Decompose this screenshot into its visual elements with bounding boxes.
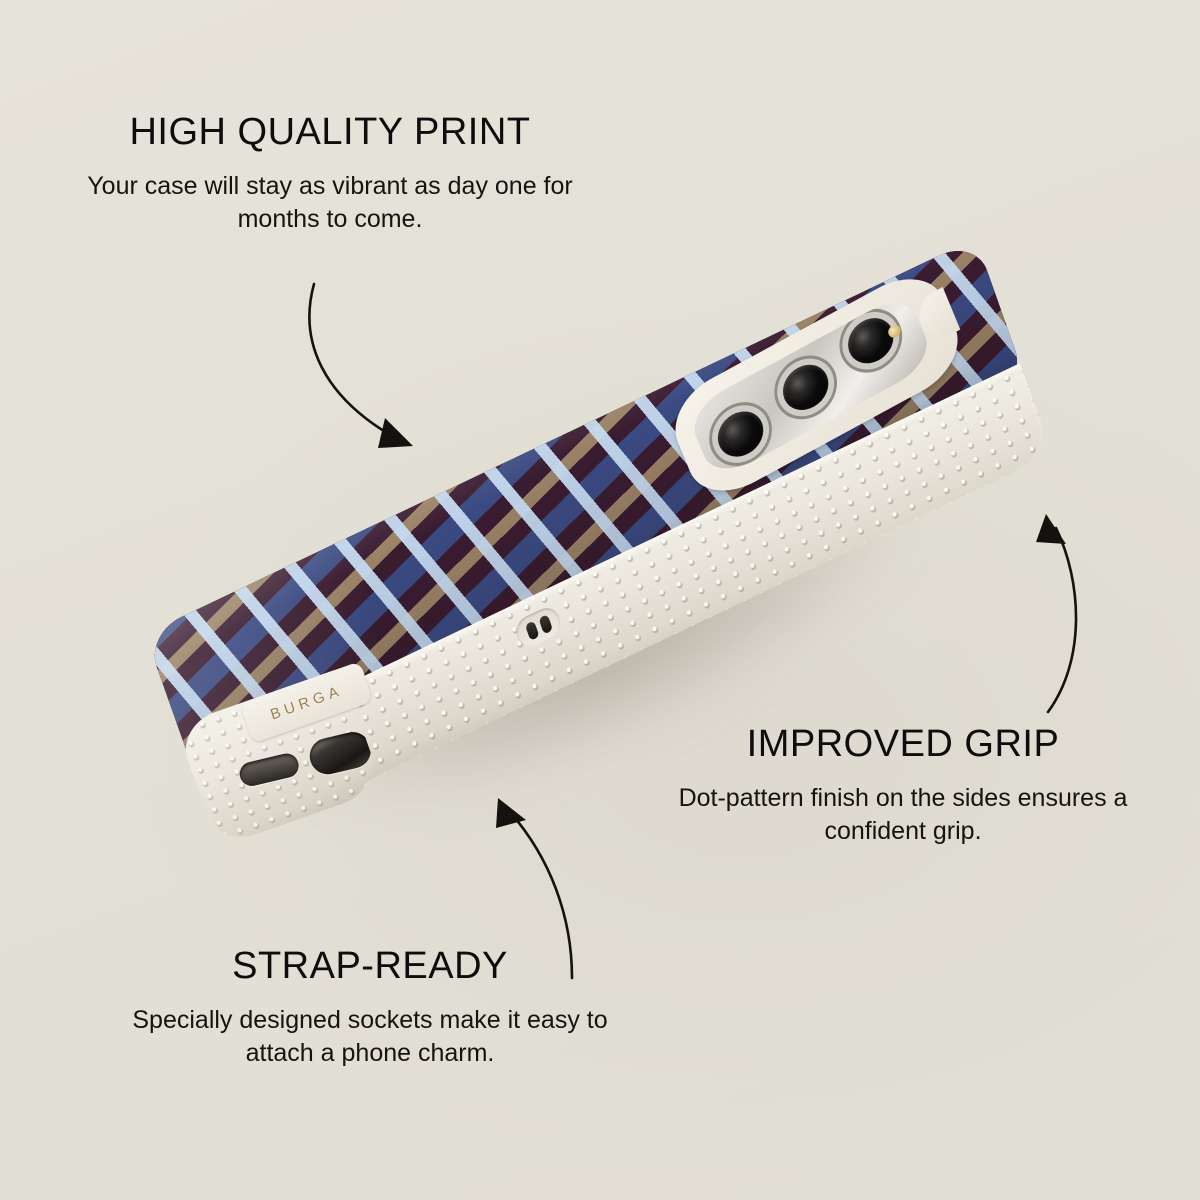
product-feature-graphic: HIGH QUALITY PRINT Your case will stay a… xyxy=(0,0,1200,1200)
callout-title: HIGH QUALITY PRINT xyxy=(48,112,612,154)
callout-body: Specially designed sockets make it easy … xyxy=(102,1004,638,1070)
camera-lens xyxy=(776,356,834,418)
camera-lens xyxy=(711,403,769,465)
strap-socket-hole xyxy=(524,620,539,640)
callout-body: Your case will stay as vibrant as day on… xyxy=(48,170,612,236)
callout-body: Dot-pattern finish on the sides ensures … xyxy=(668,782,1138,848)
callout-strap-ready: STRAP-READY Specially designed sockets m… xyxy=(102,946,638,1070)
callout-title: IMPROVED GRIP xyxy=(668,724,1138,766)
strap-socket-hole xyxy=(538,614,553,634)
callout-high-quality-print: HIGH QUALITY PRINT Your case will stay a… xyxy=(48,112,612,236)
callout-title: STRAP-READY xyxy=(102,946,638,988)
callout-improved-grip: IMPROVED GRIP Dot-pattern finish on the … xyxy=(668,724,1138,848)
curved-arrow-down-right-icon xyxy=(290,268,450,468)
